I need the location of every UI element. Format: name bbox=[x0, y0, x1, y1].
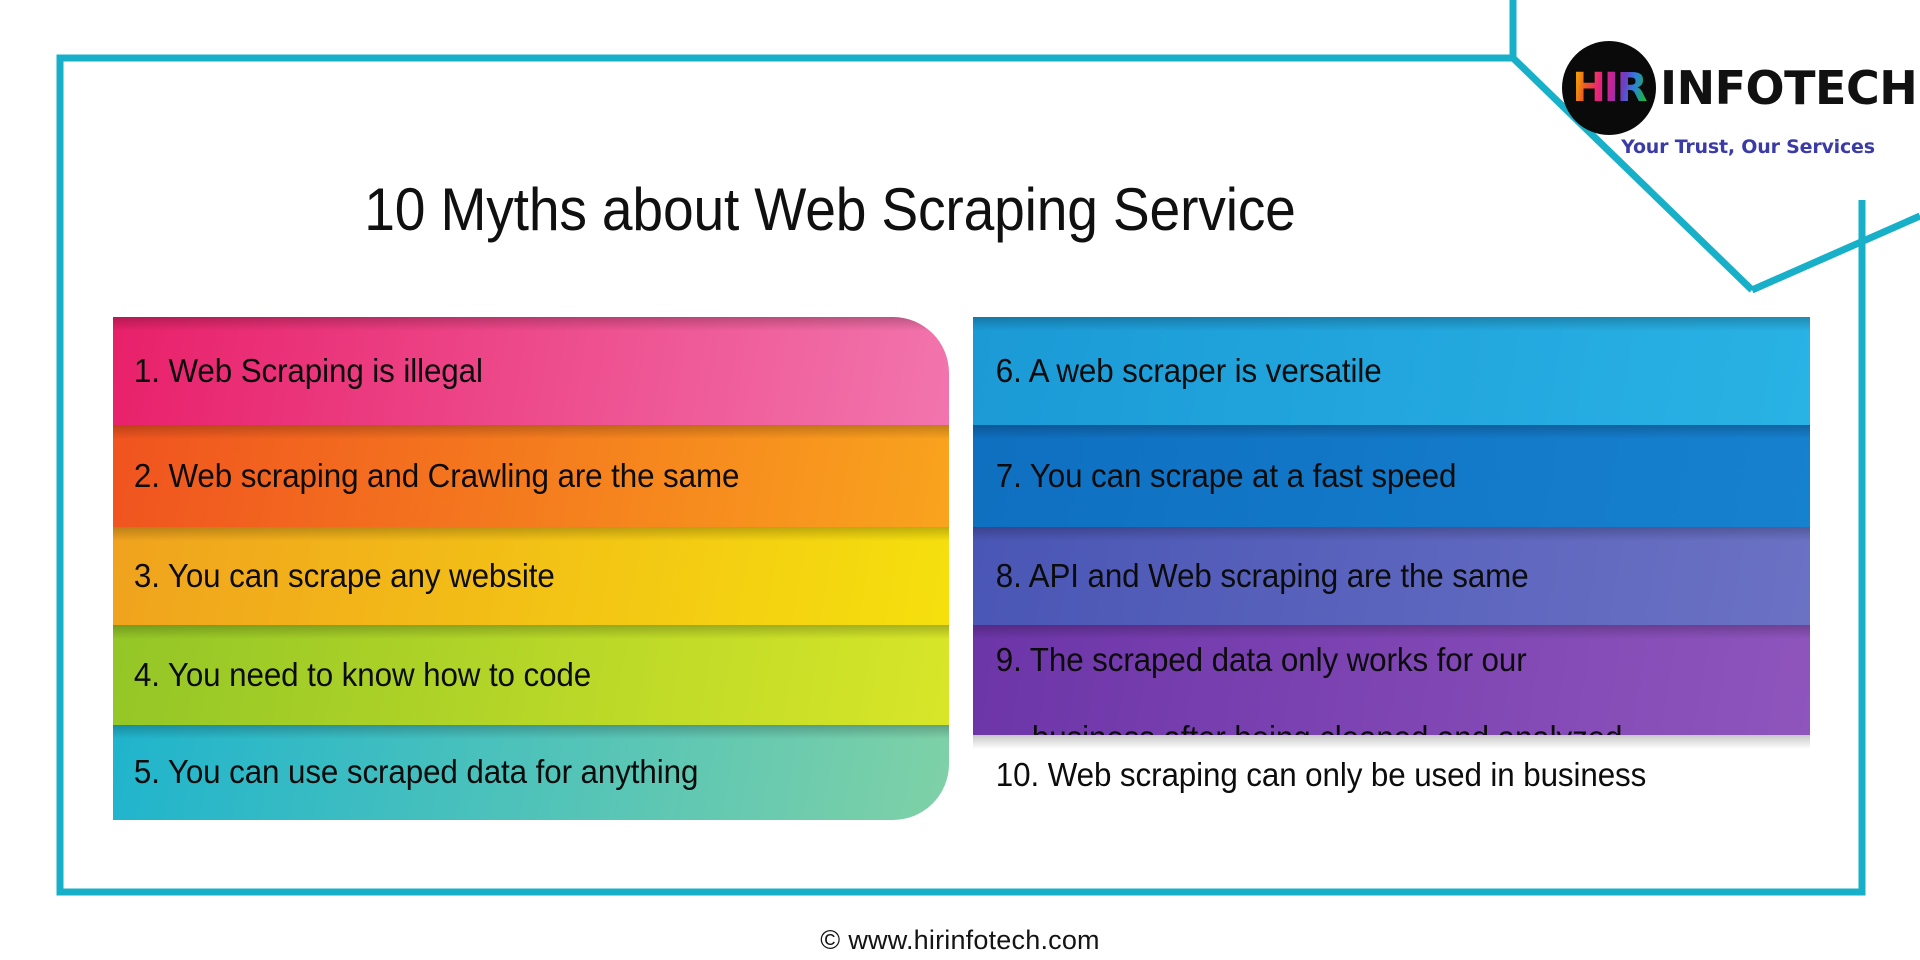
myth-item-5: 5. You can use scraped data for anything bbox=[113, 725, 949, 820]
myth-item-7: 7. You can scrape at a fast speed bbox=[973, 425, 1810, 527]
myth-item-3: 3. You can scrape any website bbox=[113, 527, 949, 625]
myth-item-1-label: 1. Web Scraping is illegal bbox=[113, 352, 500, 391]
frame-notch-right-diagonal bbox=[1752, 216, 1920, 290]
logo-row: HIR INFOTECH bbox=[1562, 40, 1917, 136]
myth-item-2-label: 2. Web scraping and Crawling are the sam… bbox=[113, 457, 756, 496]
page-title: 10 Myths about Web Scraping Service bbox=[149, 178, 1511, 241]
myth-item-5-label: 5. You can use scraped data for anything bbox=[113, 753, 715, 792]
logo-wordmark: INFOTECH bbox=[1660, 65, 1917, 111]
myth-item-8-label: 8. API and Web scraping are the same bbox=[973, 557, 1542, 596]
myth-item-4-label: 4. You need to know how to code bbox=[113, 656, 608, 695]
logo-tagline: Your Trust, Our Services bbox=[1562, 136, 1902, 158]
myth-item-2: 2. Web scraping and Crawling are the sam… bbox=[113, 425, 949, 527]
myth-item-10-label: 10. Web scraping can only be used in bus… bbox=[973, 756, 1660, 795]
brand-logo: HIR INFOTECH Your Trust, Our Services bbox=[1562, 40, 1902, 170]
myth-item-9: 9. The scraped data only works for our b… bbox=[973, 625, 1810, 735]
myth-item-4: 4. You need to know how to code bbox=[113, 625, 949, 725]
myths-column-right: 6. A web scraper is versatile 7. You can… bbox=[973, 317, 1810, 815]
myth-item-9-label: 9. The scraped data only works for our b… bbox=[973, 625, 1636, 735]
myth-item-8: 8. API and Web scraping are the same bbox=[973, 527, 1810, 625]
hir-circle-icon: HIR bbox=[1562, 41, 1656, 135]
myths-column-left: 1. Web Scraping is illegal 2. Web scrapi… bbox=[113, 317, 949, 820]
footer-url: www.hirinfotech.com bbox=[848, 925, 1099, 955]
myth-item-1: 1. Web Scraping is illegal bbox=[113, 317, 949, 425]
copyright-icon: © bbox=[820, 925, 840, 955]
myth-item-6: 6. A web scraper is versatile bbox=[973, 317, 1810, 425]
myth-item-9-line2: business after being cleaned and analyze… bbox=[996, 719, 1623, 735]
myth-item-7-label: 7. You can scrape at a fast speed bbox=[973, 457, 1470, 496]
myth-item-3-label: 3. You can scrape any website bbox=[113, 557, 572, 596]
infographic-canvas: HIR INFOTECH Your Trust, Our Services 10… bbox=[0, 0, 1920, 960]
myth-item-6-label: 6. A web scraper is versatile bbox=[973, 352, 1395, 391]
myth-item-10: 10. Web scraping can only be used in bus… bbox=[973, 735, 1810, 815]
myth-item-9-line1: 9. The scraped data only works for our bbox=[996, 641, 1527, 678]
hir-monogram: HIR bbox=[1562, 65, 1656, 111]
footer: ©www.hirinfotech.com bbox=[0, 925, 1920, 956]
